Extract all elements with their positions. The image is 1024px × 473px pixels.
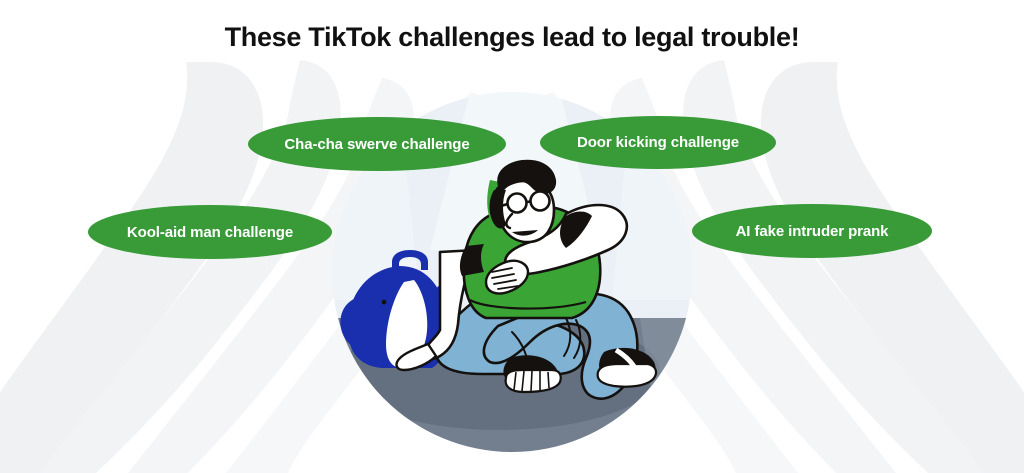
challenge-bubble-door-kicking[interactable]: Door kicking challenge: [540, 116, 776, 169]
challenge-bubble-label: Door kicking challenge: [577, 135, 739, 150]
page-title: These TikTok challenges lead to legal tr…: [0, 22, 1024, 53]
challenge-bubble-cha-cha-swerve[interactable]: Cha-cha swerve challenge: [248, 117, 506, 171]
challenge-bubble-label: Kool-aid man challenge: [127, 225, 293, 240]
infographic-canvas: These TikTok challenges lead to legal tr…: [0, 0, 1024, 473]
challenge-bubble-label: Cha-cha swerve challenge: [284, 137, 469, 152]
challenge-bubble-label: AI fake intruder prank: [736, 224, 889, 239]
challenge-bubble-ai-fake-intruder[interactable]: AI fake intruder prank: [692, 204, 932, 258]
challenge-bubble-kool-aid-man[interactable]: Kool-aid man challenge: [88, 205, 332, 259]
